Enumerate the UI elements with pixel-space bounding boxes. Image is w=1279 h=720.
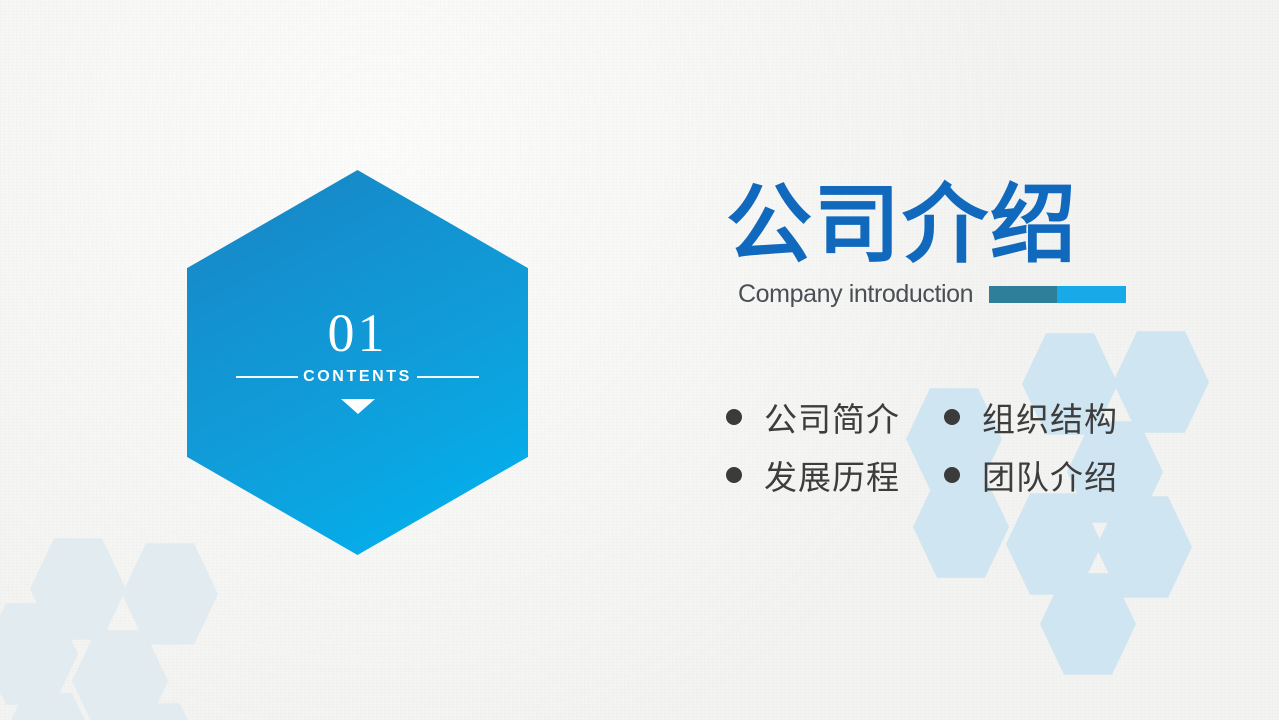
subtitle-row: Company introduction bbox=[738, 280, 1246, 309]
contents-rule-left bbox=[236, 376, 298, 378]
agenda-list: 公司简介 组织结构 发展历程 团队介绍 bbox=[726, 388, 1186, 504]
down-triangle-icon bbox=[341, 399, 375, 414]
hexagon-content: 01 CONTENTS bbox=[187, 170, 528, 555]
accent-bar-left-segment bbox=[989, 286, 1057, 303]
accent-bar bbox=[989, 286, 1126, 303]
list-item-label: 团队介绍 bbox=[982, 451, 1118, 499]
list-item-label: 发展历程 bbox=[764, 451, 900, 499]
contents-label: CONTENTS bbox=[298, 368, 417, 386]
section-number-hexagon: 01 CONTENTS bbox=[187, 170, 528, 555]
page-title: 公司介绍 bbox=[726, 180, 1246, 270]
list-item-label: 公司简介 bbox=[764, 393, 900, 441]
subtitle: Company introduction bbox=[738, 280, 973, 309]
bullet-dot-icon bbox=[726, 467, 742, 483]
list-item-label: 组织结构 bbox=[982, 393, 1118, 441]
heading-block: 公司介绍 Company introduction bbox=[726, 180, 1246, 309]
list-item[interactable]: 发展历程 bbox=[726, 446, 944, 504]
contents-rule-right bbox=[417, 376, 479, 378]
list-item[interactable]: 团队介绍 bbox=[944, 446, 1162, 504]
bullet-dot-icon bbox=[726, 409, 742, 425]
accent-bar-right-segment bbox=[1057, 286, 1126, 303]
bullet-dot-icon bbox=[944, 467, 960, 483]
bullet-dot-icon bbox=[944, 409, 960, 425]
contents-label-row: CONTENTS bbox=[187, 368, 528, 386]
list-item[interactable]: 组织结构 bbox=[944, 388, 1162, 446]
list-item[interactable]: 公司简介 bbox=[726, 388, 944, 446]
section-number: 01 bbox=[328, 306, 388, 360]
presentation-slide: 01 CONTENTS 公司介绍 Company introduction 公司… bbox=[0, 0, 1279, 720]
